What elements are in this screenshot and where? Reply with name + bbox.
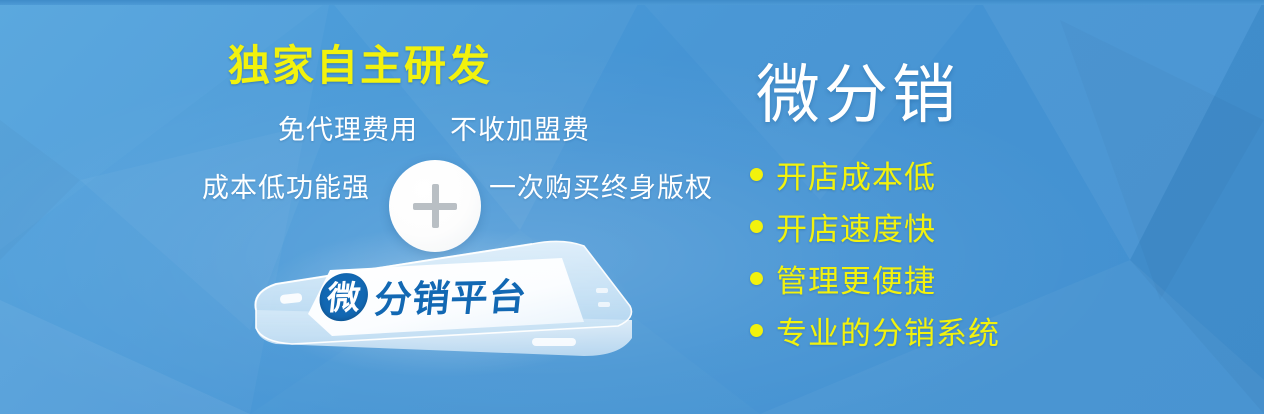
- list-item: 专业的分销系统: [750, 306, 1000, 354]
- bullet-dot-icon: [750, 324, 763, 337]
- feature-label-1: 免代理费用: [278, 108, 418, 147]
- benefit-label-3: 管理更便捷: [776, 256, 936, 301]
- smartphone-illustration: 微 分销平台: [232, 236, 652, 376]
- bullet-dot-icon: [750, 168, 763, 181]
- feature-label-2: 不收加盟费: [450, 108, 590, 147]
- logo-text: 分销平台: [372, 266, 530, 323]
- right-content-column: 微分销 开店成本低 开店速度快 管理更便捷 专业的分销系统: [744, 0, 1214, 414]
- bullet-dot-icon: [750, 220, 763, 233]
- phone-screen-logo: 微 分销平台: [317, 265, 575, 324]
- benefit-list: 开店成本低 开店速度快 管理更便捷 专业的分销系统: [750, 150, 1000, 358]
- feature-label-3: 成本低功能强: [202, 166, 370, 205]
- list-item: 开店速度快: [750, 202, 1000, 250]
- brand-title: 微分销: [756, 44, 960, 136]
- promo-banner: 独家自主研发 免代理费用 不收加盟费 成本低功能强 一次购买终身版权: [0, 0, 1264, 414]
- benefit-label-1: 开店成本低: [776, 152, 936, 197]
- list-item: 管理更便捷: [750, 254, 1000, 302]
- benefit-label-4: 专业的分销系统: [776, 308, 1000, 353]
- headline: 独家自主研发: [0, 32, 720, 93]
- left-content-column: 独家自主研发 免代理费用 不收加盟费 成本低功能强 一次购买终身版权: [0, 0, 720, 414]
- benefit-label-2: 开店速度快: [776, 204, 936, 249]
- list-item: 开店成本低: [750, 150, 1000, 198]
- bullet-dot-icon: [750, 272, 763, 285]
- feature-label-4: 一次购买终身版权: [489, 166, 713, 205]
- logo-badge-icon: 微: [317, 273, 370, 322]
